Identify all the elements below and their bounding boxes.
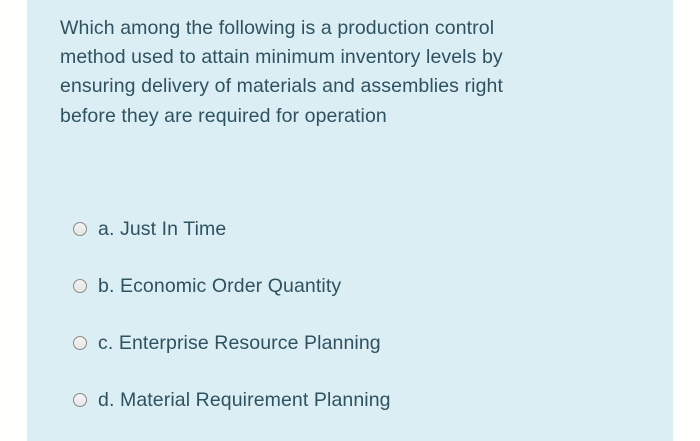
radio-button-a-icon[interactable]	[73, 222, 87, 236]
option-label-c[interactable]: c. Enterprise Resource Planning	[98, 331, 381, 355]
radio-button-b-icon[interactable]	[73, 279, 87, 293]
option-row-b[interactable]: b. Economic Order Quantity	[73, 257, 653, 314]
option-row-a[interactable]: a. Just In Time	[73, 200, 653, 257]
question-card: Which among the following is a productio…	[27, 0, 673, 441]
option-label-d[interactable]: d. Material Requirement Planning	[98, 388, 391, 412]
radio-button-c-icon[interactable]	[73, 336, 87, 350]
option-label-b[interactable]: b. Economic Order Quantity	[98, 274, 341, 298]
question-stem-text: Which among the following is a productio…	[60, 14, 650, 131]
option-row-c[interactable]: c. Enterprise Resource Planning	[73, 314, 653, 371]
radio-button-d-icon[interactable]	[73, 393, 87, 407]
option-row-d[interactable]: d. Material Requirement Planning	[73, 371, 653, 428]
answer-options-list: a. Just In Time b. Economic Order Quanti…	[73, 200, 653, 428]
option-label-a[interactable]: a. Just In Time	[98, 217, 226, 241]
